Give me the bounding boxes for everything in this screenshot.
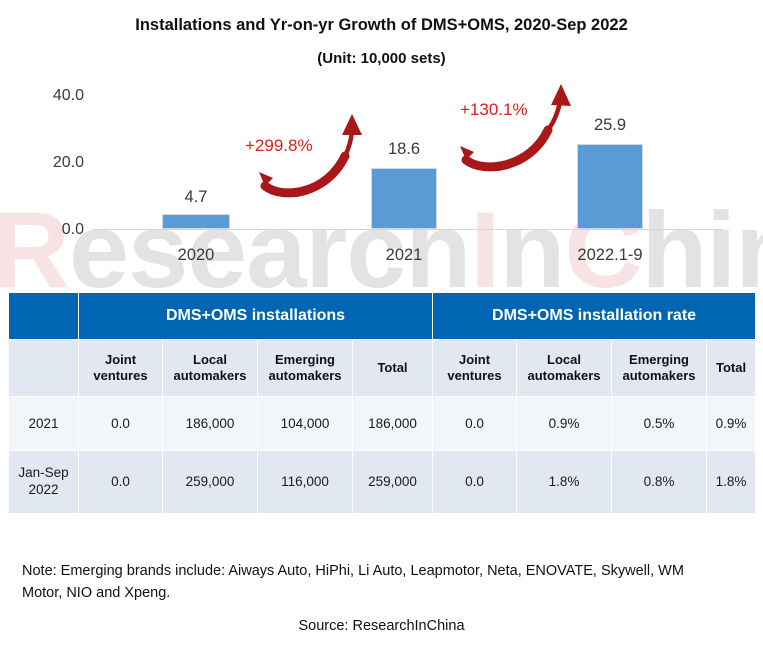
col-header-emerging-automakers-1: Emerging automakers (258, 340, 353, 397)
cell-emerging-rate: 0.5% (612, 397, 707, 451)
col-header-emerging-automakers-2: Emerging automakers (612, 340, 707, 397)
cell-jv-rate: 0.0 (433, 397, 517, 451)
group-header-installation-rate: DMS+OMS installation rate (433, 293, 756, 340)
col-header-line1: Emerging (612, 352, 706, 368)
col-header-total-1: Total (353, 340, 433, 397)
cell-local-installations: 186,000 (163, 397, 258, 451)
cell-jv-installations: 0.0 (79, 451, 163, 514)
col-header-line1: Local (163, 352, 257, 368)
table-column-header-row: Joint ventures Local automakers Emerging… (9, 340, 756, 397)
x-label-2020: 2020 (148, 246, 244, 265)
y-tick-40: 40.0 (14, 87, 84, 105)
cell-emerging-installations: 104,000 (258, 397, 353, 451)
x-label-2022: 2022.1-9 (562, 246, 658, 265)
cell-total-installations: 186,000 (353, 397, 433, 451)
growth-arrow-2021 (245, 108, 375, 198)
bar-value-2020: 4.7 (156, 188, 236, 207)
col-header-line2: ventures (433, 368, 516, 384)
cell-local-installations: 259,000 (163, 451, 258, 514)
source-label: Source: ResearchInChina (0, 618, 763, 634)
bar-value-2021: 18.6 (364, 140, 444, 159)
col-header-local-automakers-2: Local automakers (517, 340, 612, 397)
group-header-blank (9, 293, 79, 340)
group-header-installations: DMS+OMS installations (79, 293, 433, 340)
col-header-line2: automakers (258, 368, 352, 384)
bar-2022 (577, 144, 643, 229)
cell-jv-rate: 0.0 (433, 451, 517, 514)
col-header-line2: automakers (517, 368, 611, 384)
cell-total-rate: 1.8% (707, 451, 756, 514)
col-header-joint-ventures-1: Joint ventures (79, 340, 163, 397)
y-tick-0: 0.0 (14, 221, 84, 239)
row-label-2021: 2021 (9, 397, 79, 451)
table-row: 2021 0.0 186,000 104,000 186,000 0.0 0.9… (9, 397, 756, 451)
table-row: Jan-Sep 2022 0.0 259,000 116,000 259,000… (9, 451, 756, 514)
row-label-jan-sep-2022: Jan-Sep 2022 (9, 451, 79, 514)
col-header-line1: Local (517, 352, 611, 368)
col-header-joint-ventures-2: Joint ventures (433, 340, 517, 397)
col-header-line2: automakers (612, 368, 706, 384)
growth-arrow-2022 (448, 82, 578, 172)
chart-unit-subtitle: (Unit: 10,000 sets) (0, 50, 763, 67)
bar-value-2022: 25.9 (570, 116, 650, 135)
cell-total-rate: 0.9% (707, 397, 756, 451)
cell-jv-installations: 0.0 (79, 397, 163, 451)
col-header-period (9, 340, 79, 397)
footnote: Note: Emerging brands include: Aiways Au… (22, 560, 722, 605)
cell-emerging-rate: 0.8% (612, 451, 707, 514)
y-tick-20: 20.0 (14, 154, 84, 172)
col-header-line2: ventures (79, 368, 162, 384)
cell-local-rate: 0.9% (517, 397, 612, 451)
col-header-local-automakers-1: Local automakers (163, 340, 258, 397)
bar-2021 (371, 168, 437, 229)
row-label-line2: 2022 (9, 482, 78, 499)
col-header-line1: Emerging (258, 352, 352, 368)
bar-2020 (162, 214, 230, 229)
x-axis-line (93, 229, 723, 230)
col-header-line1: Joint (79, 352, 162, 368)
cell-local-rate: 1.8% (517, 451, 612, 514)
x-label-2021: 2021 (356, 246, 452, 265)
table-group-header-row: DMS+OMS installations DMS+OMS installati… (9, 293, 756, 340)
cell-emerging-installations: 116,000 (258, 451, 353, 514)
chart-title: Installations and Yr-on-yr Growth of DMS… (0, 16, 763, 35)
row-label-line1: Jan-Sep (9, 465, 78, 482)
data-table: DMS+OMS installations DMS+OMS installati… (8, 292, 756, 514)
col-header-total-2: Total (707, 340, 756, 397)
col-header-line1: Joint (433, 352, 516, 368)
col-header-line2: automakers (163, 368, 257, 384)
bar-chart: 40.0 20.0 0.0 4.7 18.6 25.9 2020 2021 20… (0, 78, 763, 278)
cell-total-installations: 259,000 (353, 451, 433, 514)
